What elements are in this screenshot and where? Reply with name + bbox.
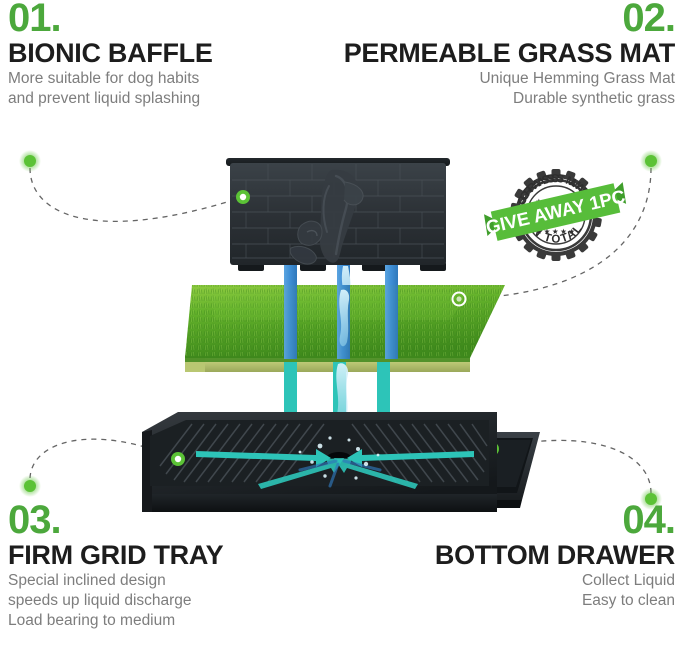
feature-block-01: 01. BIONIC BAFFLE More suitable for dog … <box>8 0 213 109</box>
feature-title-01: BIONIC BAFFLE <box>8 38 213 69</box>
feature-desc-02-line-2: Durable synthetic grass <box>344 89 675 109</box>
feature-number-02: 02. <box>344 0 675 38</box>
marker-baffle <box>236 190 250 204</box>
feature-number-03: 03. <box>8 500 223 540</box>
feature-block-03: 03. FIRM GRID TRAY Special inclined desi… <box>8 500 223 631</box>
feature-block-04: 04. BOTTOM DRAWER Collect Liquid Easy to… <box>435 500 675 611</box>
feature-desc-03-line-2: speeds up liquid discharge <box>8 591 223 611</box>
feature-title-02: PERMEABLE GRASS MAT <box>344 38 675 69</box>
feature-desc-03-line-1: Special inclined design <box>8 571 223 591</box>
give-away-badge: 2 GRASS MATS 2 GRASS MATS IN TOTAL ★★★★★… <box>483 167 629 263</box>
feature-title-03: FIRM GRID TRAY <box>8 540 223 571</box>
feature-number-04: 04. <box>435 500 675 540</box>
feature-desc-04-line-2: Easy to clean <box>435 591 675 611</box>
connector-01 <box>30 168 243 221</box>
feature-desc-04-line-1: Collect Liquid <box>435 571 675 591</box>
feature-desc-01-line-1: More suitable for dog habits <box>8 69 213 89</box>
feature-number-01: 01. <box>8 0 213 38</box>
marker-tray <box>171 452 185 466</box>
feature-desc-02-line-1: Unique Hemming Grass Mat <box>344 69 675 89</box>
infographic-canvas: 2 GRASS MATS 2 GRASS MATS IN TOTAL ★★★★★… <box>0 0 679 659</box>
feature-block-02: 02. PERMEABLE GRASS MAT Unique Hemming G… <box>344 0 675 109</box>
feature-title-04: BOTTOM DRAWER <box>435 540 675 571</box>
feature-desc-01-line-2: and prevent liquid splashing <box>8 89 213 109</box>
bionic-baffle <box>226 158 450 271</box>
grid-tray <box>142 412 540 512</box>
feature-desc-03-line-3: Load bearing to medium <box>8 611 223 631</box>
